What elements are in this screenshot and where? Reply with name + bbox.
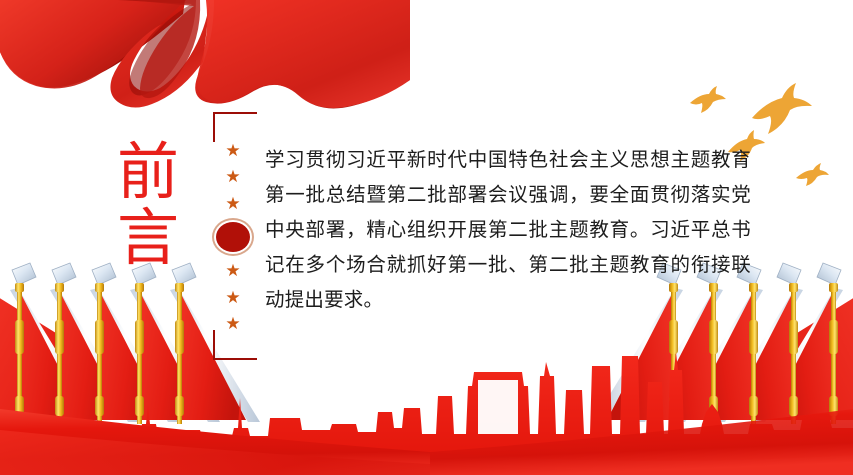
flag-right-1	[753, 263, 843, 424]
section-title-char-2: 言	[98, 206, 198, 272]
flag-left-3	[90, 263, 180, 424]
flag-left-banner	[0, 292, 196, 420]
skyline-shape	[0, 352, 853, 475]
bracket-top-left-icon	[213, 112, 257, 142]
dove-icon	[752, 83, 812, 134]
star-icon: ★	[225, 315, 240, 332]
ornament-stars-column: ★ ★ ★ ★ ★ ★	[213, 142, 253, 332]
bracket-bottom-left-icon	[213, 330, 257, 360]
flag-left-1	[10, 263, 100, 424]
section-title-char-1: 前	[98, 140, 198, 206]
star-icon: ★	[225, 168, 240, 185]
star-icon: ★	[225, 289, 240, 306]
body-paragraph: 学习贯彻习近平新时代中国特色社会主义思想主题教育第一批总结暨第二批部署会议强调，…	[265, 143, 751, 318]
star-icon: ★	[225, 142, 240, 159]
slide-canvas: 前 言 ★ ★ ★ ★ ★ ★ 学习贯彻习近平新时代中国特色社会主义思想主题教育…	[0, 0, 853, 475]
red-medallion-icon	[216, 222, 250, 252]
flag-left-2	[50, 263, 140, 424]
star-icon: ★	[225, 262, 240, 279]
dove-icon	[796, 163, 829, 186]
section-title: 前 言	[98, 140, 198, 272]
star-icon: ★	[225, 195, 240, 212]
ribbon-shapes	[0, 0, 410, 108]
dove-icon	[690, 86, 726, 113]
